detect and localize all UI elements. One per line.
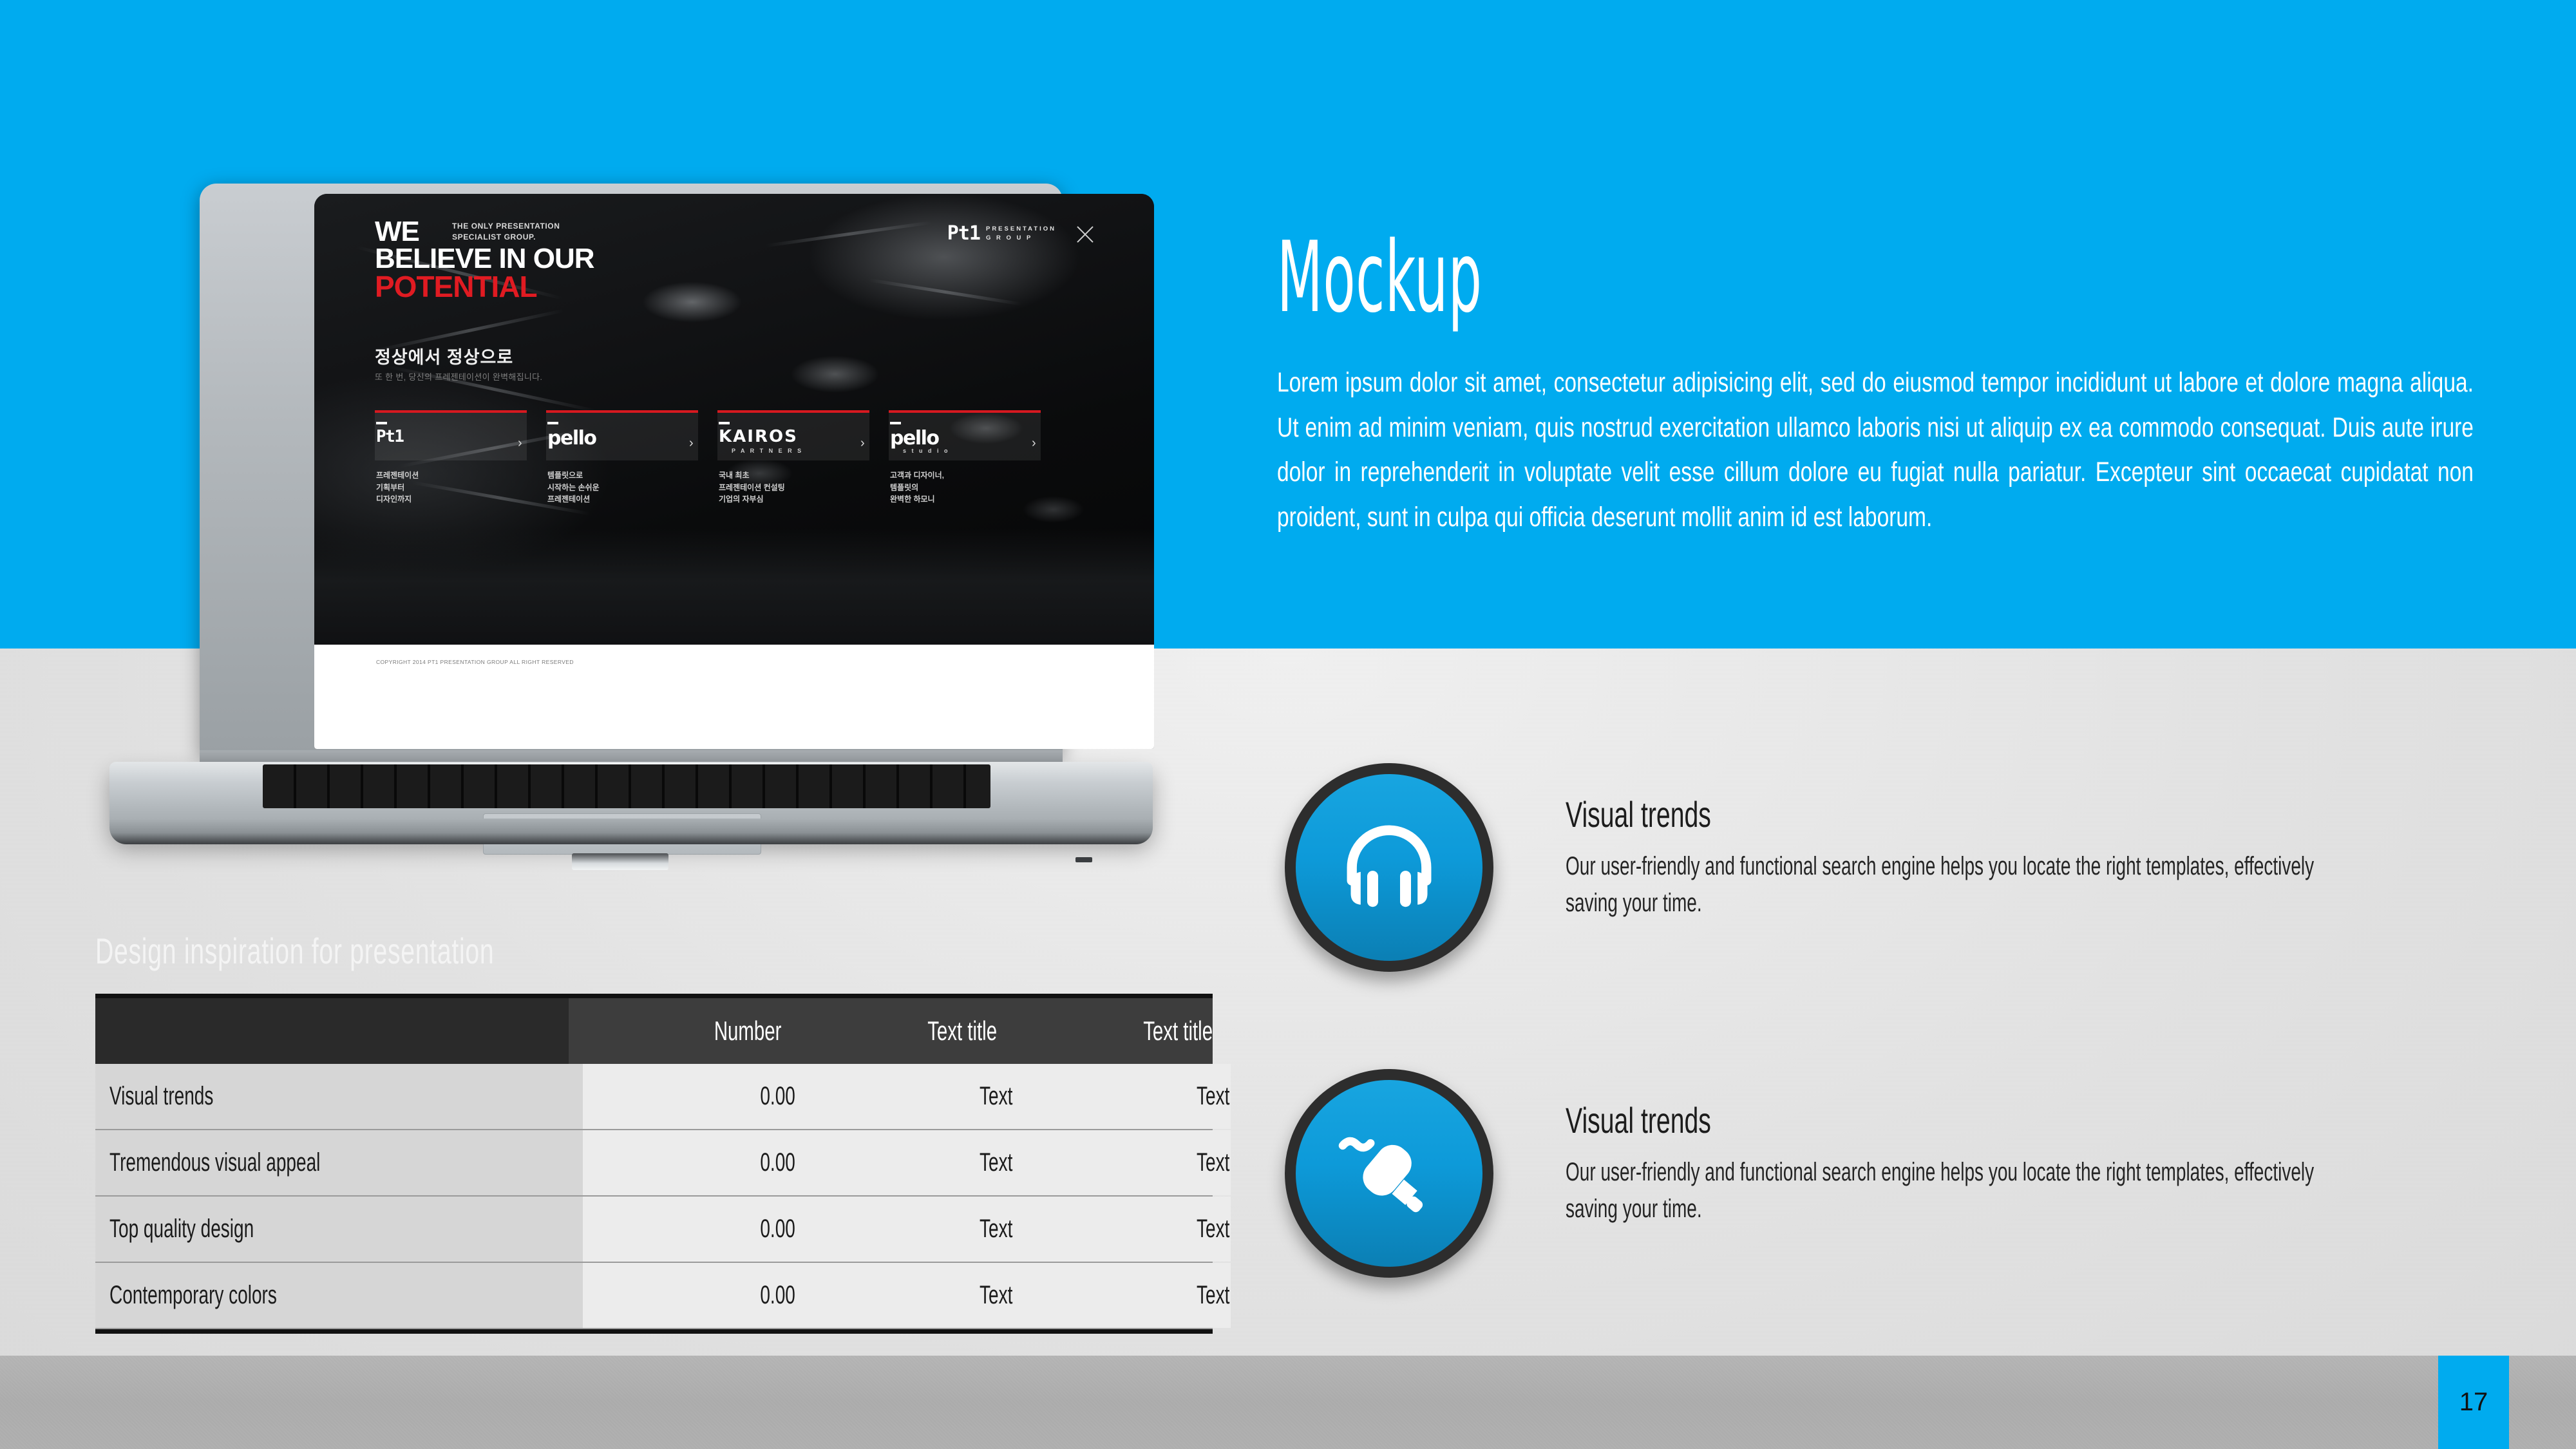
hero-line-3: POTENTIAL <box>375 272 594 301</box>
table-cell-text-2: Text <box>1014 1197 1231 1262</box>
laptop-keyboard <box>263 764 990 808</box>
headphones-icon[interactable] <box>1285 763 1493 972</box>
intro-paragraph: Lorem ipsum dolor sit amet, consectetur … <box>1277 361 2474 540</box>
feature-title: Visual trends <box>1566 797 2323 833</box>
table-header-row: Number Text title Text title <box>95 998 1213 1064</box>
feature-block: Visual trends Our user-friendly and func… <box>1285 763 2576 972</box>
table-header-number: Number <box>569 998 781 1064</box>
headphones-glyph <box>1334 813 1444 922</box>
nav-card-tick <box>376 422 387 424</box>
nav-card-logo: KAIROS <box>719 427 798 446</box>
nav-card-tick <box>890 422 901 424</box>
feature-text: Visual trends Our user-friendly and func… <box>1566 763 2576 922</box>
table-cell-text-1: Text <box>797 1130 1014 1195</box>
feature-description: Our user-friendly and functional search … <box>1566 848 2323 922</box>
hero-korean-subline: 또 한 번, 당신의 프레젠테이션이 완벽해집니다. <box>375 370 542 383</box>
table-header-cell-blank <box>95 998 569 1064</box>
hero-line-2: BELIEVE IN OUR <box>375 245 594 272</box>
brand-word-2: G R O U P <box>986 234 1032 241</box>
audio-jack-glyph <box>1331 1115 1447 1231</box>
table-row[interactable]: Top quality design 0.00 Text Text <box>95 1197 1213 1263</box>
table-cell-text-1: Text <box>797 1197 1014 1262</box>
laptop-latch <box>572 853 668 870</box>
laptop-port <box>1075 857 1092 862</box>
close-icon[interactable] <box>1074 223 1096 245</box>
laptop-mockup: WE BELIEVE IN OUR POTENTIAL THE ONLY PRE… <box>97 184 1166 879</box>
nav-card-sublogo: P A R T N E R S <box>732 448 803 454</box>
nav-card-logo: Pt1 <box>376 427 403 446</box>
table-cell-number: 0.00 <box>583 1064 797 1129</box>
table-cell-text-1: Text <box>797 1064 1014 1129</box>
nav-card-desc: 고객과 디자이너, 템플릿의 완벽한 하모니 <box>890 469 944 506</box>
chevron-right-icon: › <box>518 436 522 451</box>
table-bottom-rule <box>95 1329 1213 1334</box>
brand-word-1: PRESENTATION <box>986 225 1056 232</box>
table-row[interactable]: Tremendous visual appeal 0.00 Text Text <box>95 1130 1213 1197</box>
table-cell-label: Tremendous visual appeal <box>95 1130 583 1195</box>
table-cell-number: 0.00 <box>583 1197 797 1262</box>
audio-jack-icon[interactable] <box>1285 1069 1493 1278</box>
hero-korean-headline: 정상에서 정상으로 <box>375 343 513 368</box>
copyright-text: COPYRIGHT 2014 PT1 PRESENTATION GROUP AL… <box>376 659 574 665</box>
laptop-lid: WE BELIEVE IN OUR POTENTIAL THE ONLY PRE… <box>200 184 1063 757</box>
nav-card-desc: 템플릿으로 시작하는 손쉬운 프레젠테이션 <box>547 469 600 506</box>
table-cell-label: Top quality design <box>95 1197 583 1262</box>
table-header-text-2: Text title <box>997 998 1213 1064</box>
table-header-text-1: Text title <box>781 998 997 1064</box>
nav-card-sublogo: s t u d i o <box>903 448 950 454</box>
nav-card-logo: pello <box>890 427 939 450</box>
screen-photo-lower <box>314 529 1154 645</box>
feature-description: Our user-friendly and functional search … <box>1566 1154 2323 1227</box>
slide-root: Mockup Lorem ipsum dolor sit amet, conse… <box>0 0 2576 1449</box>
table-row[interactable]: Visual trends 0.00 Text Text <box>95 1064 1213 1130</box>
screen-brand-logo: Pt1 PRESENTATION G R O U P <box>947 222 1056 245</box>
table-cell-label: Visual trends <box>95 1064 583 1129</box>
hero-tagline: THE ONLY PRESENTATION SPECIALIST GROUP. <box>452 221 594 242</box>
nav-card-tick <box>547 422 558 424</box>
feature-text: Visual trends Our user-friendly and func… <box>1566 1069 2576 1227</box>
screen-footer-band: COPYRIGHT 2014 PT1 PRESENTATION GROUP AL… <box>314 645 1154 749</box>
laptop-base-front <box>109 819 1153 844</box>
laptop-screen: WE BELIEVE IN OUR POTENTIAL THE ONLY PRE… <box>314 194 1154 749</box>
footer-texture <box>0 1356 2576 1449</box>
chevron-right-icon: › <box>1032 436 1036 451</box>
feature-title: Visual trends <box>1566 1103 2323 1139</box>
table-cell-number: 0.00 <box>583 1130 797 1195</box>
brand-mark: Pt1 <box>947 222 980 245</box>
data-table: Number Text title Text title Visual tren… <box>95 994 1213 1334</box>
table-row[interactable]: Contemporary colors 0.00 Text Text <box>95 1263 1213 1329</box>
table-cell-text-2: Text <box>1014 1064 1231 1129</box>
table-cell-text-2: Text <box>1014 1263 1231 1328</box>
table-cell-label: Contemporary colors <box>95 1263 583 1328</box>
page-number-badge: 17 <box>2438 1356 2509 1449</box>
brand-wordmark: PRESENTATION G R O U P <box>986 225 1056 242</box>
table-cell-number: 0.00 <box>583 1263 797 1328</box>
table-top-rule <box>95 994 1213 998</box>
table-cell-text-1: Text <box>797 1263 1014 1328</box>
table-body: Visual trends 0.00 Text Text Tremendous … <box>95 1064 1213 1329</box>
feature-block: Visual trends Our user-friendly and func… <box>1285 1069 2576 1278</box>
nav-card-tick <box>719 422 730 424</box>
chevron-right-icon: › <box>689 436 694 451</box>
nav-card-desc: 국내 최초 프레젠테이션 컨설팅 기업의 자부심 <box>719 469 785 506</box>
nav-card-logo: pello <box>547 427 596 450</box>
table-section-title: Design inspiration for presentation <box>95 930 494 972</box>
table-cell-text-2: Text <box>1014 1130 1231 1195</box>
page-title: Mockup <box>1277 229 1482 327</box>
hero-heading: WE BELIEVE IN OUR POTENTIAL THE ONLY PRE… <box>375 218 594 301</box>
chevron-right-icon: › <box>860 436 865 451</box>
nav-card-desc: 프레젠테이션 기획부터 디자인까지 <box>376 469 419 506</box>
